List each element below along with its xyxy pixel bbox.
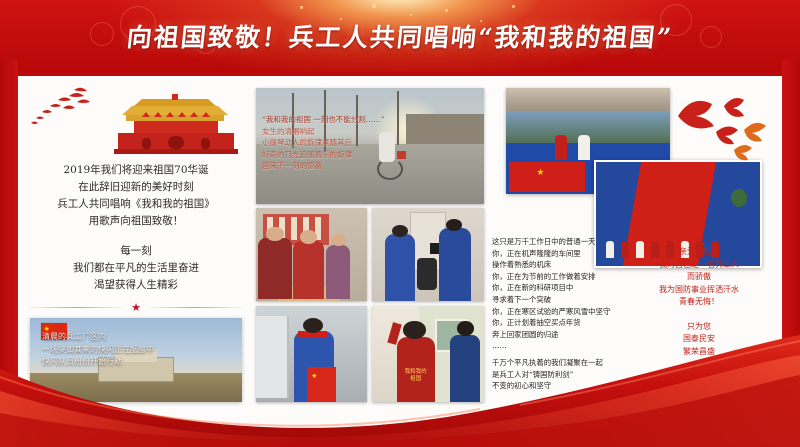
china-flag-carpet-icon: ★: [509, 162, 584, 192]
building-caption: 清晨的兵工厂区内 一场突如其来的快闪正在酝酿中 快闪队员纷纷开始行动: [42, 331, 232, 369]
left-column: 2019年我们将迎来祖国70华诞 在此辞旧迎新的美好时刻 兵工人共同唱响《我和我…: [22, 82, 250, 422]
red-star-icon: ★: [131, 302, 141, 313]
caption-line: 迎来下一刻的惊喜: [262, 160, 430, 172]
left-line: 用歌声向祖国致敬！: [22, 213, 250, 230]
office-workers-photo: [372, 208, 484, 301]
caption-line: “我和我的祖国 一刻也不能分割……”: [262, 114, 430, 126]
narrative-line: 你，正在新的科研项目中: [492, 282, 628, 294]
left-line: 在此辞旧迎新的美好时刻: [22, 179, 250, 196]
left-line: 渴望获得人生精彩: [22, 277, 250, 294]
red-line: 我为自己是一名兵工人: [636, 259, 762, 272]
worker-with-flag-photo: ★: [256, 306, 367, 402]
meeting-room-photo: [256, 208, 367, 301]
photo-grid: “我和我的祖国 一刻也不能分割……” 女生的清唱响起 小提琴动人的旋律紧随其后 …: [256, 88, 484, 420]
caption-line: 好奇的目光追随着乐的旋律: [262, 149, 430, 161]
divider-line-right: [147, 307, 244, 308]
narrative-line: 这只是万千工作日中的普通一天: [492, 236, 628, 248]
narrative-line: 是兵工人对“铸国防利剑”: [492, 369, 628, 381]
caption-line: 快闪队员纷纷开始行动: [42, 356, 232, 369]
narrative-line: 操作着熟悉的机床: [492, 259, 628, 271]
divider-line-left: [28, 307, 125, 308]
caption-line: 一场突如其来的快闪正在酝酿中: [42, 344, 232, 357]
poster-root: 向祖国致敬！兵工人共同唱响“我和我的祖国”: [0, 0, 800, 447]
red-line: 繁荣昌盛: [636, 346, 762, 359]
narrative-line: 你，正在寒区试验的严寒风雪中坚守: [492, 306, 628, 318]
section-divider: ★: [28, 300, 244, 314]
poster-title: 向祖国致敬！兵工人共同唱响“我和我的祖国”: [0, 0, 800, 72]
left-line: 每一刻: [22, 243, 250, 260]
left-line: 2019年我们将迎来祖国70华诞: [22, 162, 250, 179]
caption-line: 小提琴动人的旋律紧随其后: [262, 137, 430, 149]
red-line: 亲爱的祖国: [636, 246, 762, 259]
left-intro-text: 2019年我们将迎来祖国70华诞 在此辞旧迎新的美好时刻 兵工人共同唱响《我和我…: [22, 162, 250, 294]
red-line: 国泰民安: [636, 333, 762, 346]
narrative-line: 你，正在为节前的工作做着安排: [492, 271, 628, 283]
narrative-line: ……: [492, 340, 628, 352]
left-line: 我们都在平凡的生活里奋进: [22, 260, 250, 277]
center-narrative-text: 这只是万千工作日中的普通一天 你，正在机声隆隆的车间里 操作着熟悉的机床 你，正…: [492, 236, 628, 392]
narrative-line: 你，正在机声隆隆的车间里: [492, 248, 628, 260]
cheering-girl-photo: 我和我的祖国: [372, 306, 484, 402]
left-line: 兵工人共同唱响《我和我的祖国》: [22, 196, 250, 213]
bike-photo-caption: “我和我的祖国 一刻也不能分割……” 女生的清唱响起 小提琴动人的旋律紧随其后 …: [262, 114, 430, 172]
red-line: 而骄傲: [636, 271, 762, 284]
right-red-text: 亲爱的祖国 我为自己是一名兵工人 而骄傲 我为国防事业挥洒汗水 青春无悔！ 只为…: [636, 246, 762, 358]
left-red-edge: [0, 60, 18, 447]
red-line: 我为国防事业挥洒汗水: [636, 284, 762, 297]
narrative-line: 千万个平凡执着的我们凝聚在一起: [492, 357, 628, 369]
right-red-edge: [782, 60, 800, 447]
red-line: 青春无悔！: [636, 296, 762, 309]
narrative-line: 你，正计划着抽空买点年货: [492, 317, 628, 329]
narrative-line: 寻求着下一个突破: [492, 294, 628, 306]
narrative-line: 不变的初心和坚守: [492, 380, 628, 392]
bicycle-street-photo: “我和我的祖国 一刻也不能分割……” 女生的清唱响起 小提琴动人的旋律紧随其后 …: [256, 88, 484, 204]
factory-building-photo: ★ 清晨的兵工厂区内 一场突如其来的快闪正在酝酿中 快闪队员纷纷开始行动: [30, 318, 242, 402]
narrative-line: 奔上回家团圆的归途: [492, 329, 628, 341]
tiananmen-gate-icon: [22, 82, 250, 160]
china-flag-icon: ★: [307, 367, 336, 402]
caption-line: 清晨的兵工厂区内: [42, 331, 232, 344]
red-line: 只为您: [636, 321, 762, 334]
caption-line: 女生的清唱响起: [262, 126, 430, 138]
doves-icon: [672, 86, 782, 170]
